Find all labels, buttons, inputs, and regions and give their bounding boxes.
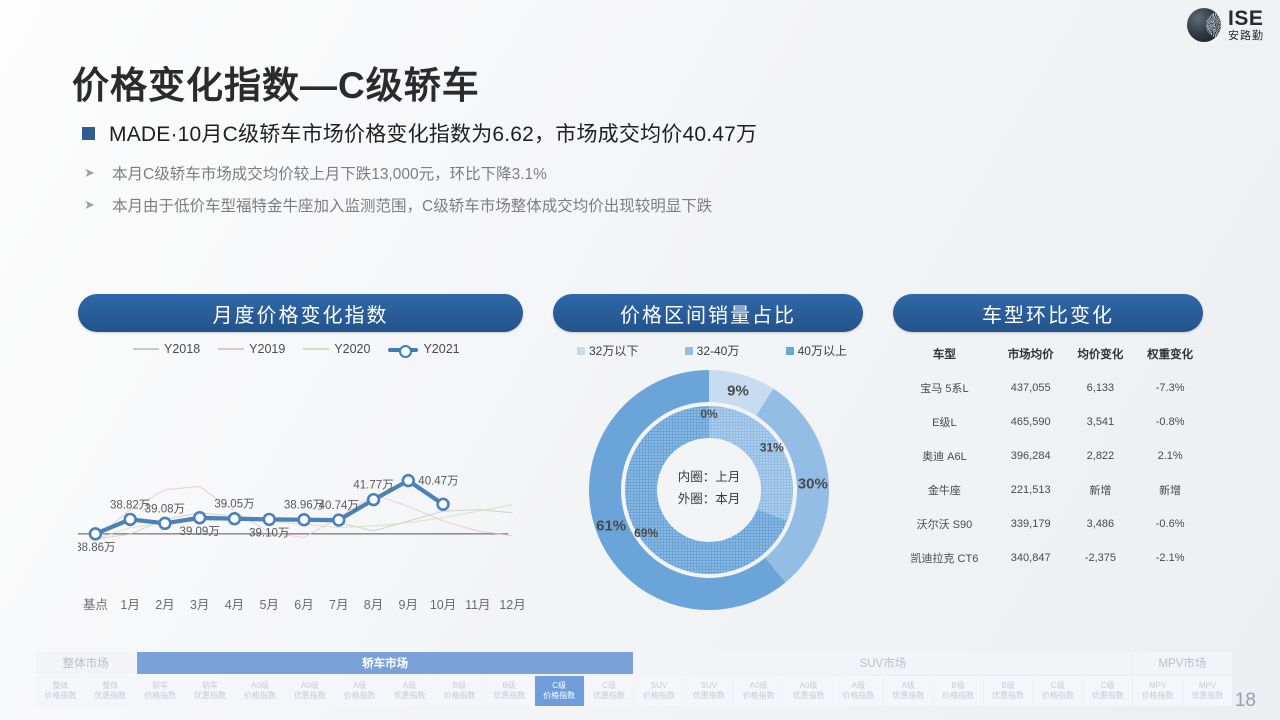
headline-bullet: MADE·10月C级轿车市场价格变化指数为6.62，市场成交均价40.47万 xyxy=(82,118,757,148)
chart-legend: Y2018Y2019Y2020Y2021 xyxy=(133,342,483,356)
donut-legend-label: 32-40万 xyxy=(697,342,740,359)
logo-name: ISE xyxy=(1228,8,1264,29)
donut-outer-note: 外圈：本月 xyxy=(659,488,759,510)
bottom-navigation[interactable]: 整体市场轿车市场SUV市场MPV市场 整体价格指数整体优惠指数轿车价格指数轿车优… xyxy=(36,652,1232,704)
data-label: 39.05万 xyxy=(214,499,254,511)
nav-tab-line1: A级 xyxy=(403,681,416,691)
x-tick-label: 12月 xyxy=(495,594,530,613)
table-cell: -2,375 xyxy=(1066,541,1136,575)
table-row: 沃尔沃 S90339,1793,486-0.6% xyxy=(893,507,1205,541)
nav-tab-line1: MPV xyxy=(1149,681,1166,691)
legend-label: Y2020 xyxy=(334,342,370,356)
table-header-cell: 权重变化 xyxy=(1135,340,1205,371)
nav-tab-23[interactable]: MPV优惠指数 xyxy=(1183,676,1232,706)
panel-title-donut-chart: 价格区间销量占比 xyxy=(553,294,863,332)
nav-tab-19[interactable]: B级优惠指数 xyxy=(984,676,1033,706)
nav-tab-14[interactable]: A0级价格指数 xyxy=(734,676,783,706)
legend-label: Y2019 xyxy=(249,342,285,356)
x-tick-label: 9月 xyxy=(391,594,426,613)
table-cell: 3,541 xyxy=(1066,405,1136,439)
data-point xyxy=(333,515,344,526)
donut-data-label: 31% xyxy=(760,440,784,454)
x-tick-label: 3月 xyxy=(182,594,217,613)
arrow-right-icon: ➤ xyxy=(84,197,96,213)
x-tick-label: 5月 xyxy=(252,594,287,613)
nav-tab-10[interactable]: C级价格指数 xyxy=(535,676,584,706)
data-point xyxy=(125,514,136,525)
table-cell: E级L xyxy=(893,405,996,439)
data-point xyxy=(403,475,414,486)
donut-data-label: 30% xyxy=(798,476,828,493)
table-cell: 6,133 xyxy=(1066,371,1136,405)
nav-group-整体市场[interactable]: 整体市场 xyxy=(36,652,135,674)
legend-label: Y2018 xyxy=(164,342,200,356)
nav-tab-9[interactable]: B级优惠指数 xyxy=(485,676,534,706)
table-cell: 339,179 xyxy=(996,507,1066,541)
table-header-cell: 市场均价 xyxy=(996,340,1066,371)
table-row: 凯迪拉克 CT6340,847-2,375-2.1% xyxy=(893,541,1205,575)
nav-tab-1[interactable]: 整体优惠指数 xyxy=(86,676,135,706)
table-row: 宝马 5系L437,0556,133-7.3% xyxy=(893,371,1205,405)
nav-tab-line2: 价格指数 xyxy=(842,691,874,701)
table-cell: -0.8% xyxy=(1135,405,1205,439)
square-bullet-icon xyxy=(82,127,95,140)
nav-index-tabs[interactable]: 整体价格指数整体优惠指数轿车价格指数轿车优惠指数A0级价格指数A0级优惠指数A级… xyxy=(36,676,1232,706)
legend-item-Y2018: Y2018 xyxy=(133,342,200,356)
data-point xyxy=(90,528,101,539)
nav-tab-17[interactable]: A级优惠指数 xyxy=(884,676,933,706)
nav-tab-3[interactable]: 轿车优惠指数 xyxy=(186,676,235,706)
donut-legend-item: 40万以上 xyxy=(786,342,847,359)
data-label: 41.77万 xyxy=(353,480,393,492)
sub-point-2-text: 本月由于低价车型福特金牛座加入监测范围，C级轿车市场整体成交均价出现较明显下跌 xyxy=(112,194,712,216)
nav-tab-line2: 价格指数 xyxy=(244,691,276,701)
nav-tab-line1: A0级 xyxy=(301,681,319,691)
nav-tab-line1: C级 xyxy=(1101,681,1115,691)
nav-tab-13[interactable]: SUV优惠指数 xyxy=(684,676,733,706)
nav-tab-line2: 价格指数 xyxy=(643,691,675,701)
table-header-row: 车型市场均价均价变化权重变化 xyxy=(893,340,1205,371)
nav-group-MPV市场[interactable]: MPV市场 xyxy=(1133,652,1232,674)
legend-swatch-icon xyxy=(577,347,585,355)
donut-data-label: 69% xyxy=(634,526,658,540)
donut-center-note: 内圈：上月 外圈：本月 xyxy=(659,466,759,510)
model-change-table: 车型市场均价均价变化权重变化 宝马 5系L437,0556,133-7.3%E级… xyxy=(893,340,1205,575)
nav-tab-line1: SUV xyxy=(701,681,717,691)
x-tick-label: 7月 xyxy=(321,594,356,613)
nav-tab-6[interactable]: A级价格指数 xyxy=(335,676,384,706)
nav-tab-line2: 价格指数 xyxy=(443,691,475,701)
logo-name-cn: 安路勤 xyxy=(1228,31,1264,42)
table-row: 奥迪 A6L396,2842,8222.1% xyxy=(893,439,1205,473)
nav-tab-5[interactable]: A0级优惠指数 xyxy=(285,676,334,706)
table-cell: 221,513 xyxy=(996,473,1066,507)
donut-legend-item: 32万以下 xyxy=(577,342,638,359)
nav-tab-21[interactable]: C级优惠指数 xyxy=(1083,676,1132,706)
x-axis-labels: 基点1月2月3月4月5月6月7月8月9月10月11月12月 xyxy=(78,594,530,613)
panel-title-table: 车型环比变化 xyxy=(893,294,1203,332)
data-label: 38.86万 xyxy=(78,542,116,554)
data-label: 39.10万 xyxy=(249,527,289,539)
nav-tab-line1: B级 xyxy=(453,681,466,691)
legend-marker-icon xyxy=(388,344,418,354)
price-range-share-chart: 32万以下32-40万40万以上 9%30%61%31%69%0% 内圈：上月 … xyxy=(553,336,865,621)
x-tick-label: 1月 xyxy=(113,594,148,613)
nav-tab-7[interactable]: A级优惠指数 xyxy=(385,676,434,706)
nav-tab-20[interactable]: C级价格指数 xyxy=(1034,676,1083,706)
nav-tab-line1: 轿车 xyxy=(152,681,168,691)
nav-tab-line2: 优惠指数 xyxy=(1192,691,1224,701)
nav-tab-15[interactable]: A0级优惠指数 xyxy=(784,676,833,706)
table-cell: -0.6% xyxy=(1135,507,1205,541)
nav-tab-0[interactable]: 整体价格指数 xyxy=(36,676,85,706)
table-cell: 奥迪 A6L xyxy=(893,439,996,473)
data-point xyxy=(229,513,240,524)
donut-legend-label: 32万以下 xyxy=(589,342,638,359)
table-cell: -7.3% xyxy=(1135,371,1205,405)
table-cell: 凯迪拉克 CT6 xyxy=(893,541,996,575)
legend-dash-icon xyxy=(218,348,244,350)
legend-dash-icon xyxy=(303,348,329,350)
nav-tab-line2: 优惠指数 xyxy=(493,691,525,701)
page-title: 价格变化指数—C级轿车 xyxy=(72,55,480,109)
table-cell: 新增 xyxy=(1135,473,1205,507)
x-tick-label: 基点 xyxy=(78,594,113,613)
data-point xyxy=(368,494,379,505)
nav-tab-line2: 价格指数 xyxy=(144,691,176,701)
table-row: 金牛座221,513新增新增 xyxy=(893,473,1205,507)
table-header-cell: 均价变化 xyxy=(1066,340,1136,371)
sub-point-1-text: 本月C级轿车市场成交均价较上月下跌13,000元，环比下降3.1% xyxy=(112,162,547,184)
nav-tab-line2: 价格指数 xyxy=(1142,691,1174,701)
nav-tab-line1: B级 xyxy=(503,681,516,691)
logo-text: ISE 安路勤 xyxy=(1228,8,1264,42)
nav-tab-line2: 价格指数 xyxy=(344,691,376,701)
nav-tab-22[interactable]: MPV价格指数 xyxy=(1133,676,1182,706)
nav-tab-line1: A0级 xyxy=(800,681,818,691)
table-cell: 宝马 5系L xyxy=(893,371,996,405)
nav-tab-line1: 轿车 xyxy=(202,681,218,691)
nav-tab-line2: 优惠指数 xyxy=(992,691,1024,701)
nav-tab-line1: 整体 xyxy=(52,681,68,691)
nav-tab-line1: C级 xyxy=(1051,681,1065,691)
nav-tab-line1: SUV xyxy=(651,681,667,691)
data-point xyxy=(264,514,275,525)
nav-tab-line1: A0级 xyxy=(750,681,768,691)
table-cell: 2.1% xyxy=(1135,439,1205,473)
nav-tab-line1: MPV xyxy=(1199,681,1216,691)
nav-tab-line2: 优惠指数 xyxy=(793,691,825,701)
table-row: E级L465,5903,541-0.8% xyxy=(893,405,1205,439)
nav-tab-line2: 优惠指数 xyxy=(94,691,126,701)
nav-tab-line2: 优惠指数 xyxy=(394,691,426,701)
sub-point-2: ➤ 本月由于低价车型福特金牛座加入监测范围，C级轿车市场整体成交均价出现较明显下… xyxy=(84,194,712,216)
table-cell: 340,847 xyxy=(996,541,1066,575)
data-label: 40.74万 xyxy=(319,500,359,512)
slide-root: ISE 安路勤 价格变化指数—C级轿车 MADE·10月C级轿车市场价格变化指数… xyxy=(0,0,1280,720)
table-cell: 3,486 xyxy=(1066,507,1136,541)
page-number: 18 xyxy=(1235,690,1256,712)
nav-tab-line1: 整体 xyxy=(102,681,118,691)
x-tick-label: 8月 xyxy=(356,594,391,613)
legend-dash-icon xyxy=(133,348,159,350)
donut-data-label: 9% xyxy=(727,382,749,399)
nav-tab-line2: 优惠指数 xyxy=(1092,691,1124,701)
data-label: 39.09万 xyxy=(180,526,220,538)
donut-inner-note: 内圈：上月 xyxy=(659,466,759,488)
donut-legend: 32万以下32-40万40万以上 xyxy=(577,342,847,359)
nav-tab-18[interactable]: B级价格指数 xyxy=(934,676,983,706)
nav-tab-line1: A级 xyxy=(902,681,915,691)
legend-item-Y2020: Y2020 xyxy=(303,342,370,356)
data-label: 40.47万 xyxy=(418,476,458,488)
table-header-cell: 车型 xyxy=(893,340,996,371)
nav-tab-line2: 价格指数 xyxy=(543,691,575,701)
nav-tab-line1: A级 xyxy=(353,681,366,691)
nav-tab-line1: A级 xyxy=(852,681,865,691)
table-cell: 新增 xyxy=(1066,473,1136,507)
monthly-price-index-chart: Y2018Y2019Y2020Y2021 38.86万38.82万39.08万3… xyxy=(78,336,530,621)
table-cell: -2.1% xyxy=(1135,541,1205,575)
x-tick-label: 10月 xyxy=(426,594,461,613)
donut-legend-label: 40万以上 xyxy=(798,342,847,359)
nav-tab-line2: 价格指数 xyxy=(743,691,775,701)
line-chart-svg: 38.86万38.82万39.08万39.09万39.05万39.10万38.9… xyxy=(78,364,530,594)
donut-data-label: 61% xyxy=(596,517,626,534)
donut-legend-item: 32-40万 xyxy=(685,342,740,359)
nav-tab-11[interactable]: C级优惠指数 xyxy=(585,676,634,706)
legend-swatch-icon xyxy=(786,347,794,355)
table-cell: 2,822 xyxy=(1066,439,1136,473)
nav-tab-4[interactable]: A0级价格指数 xyxy=(236,676,285,706)
nav-tab-line2: 优惠指数 xyxy=(593,691,625,701)
data-point xyxy=(160,518,171,529)
nav-tab-line2: 优惠指数 xyxy=(294,691,326,701)
nav-tab-line1: C级 xyxy=(552,681,566,691)
nav-tab-line1: B级 xyxy=(952,681,965,691)
legend-item-Y2019: Y2019 xyxy=(218,342,285,356)
nav-tab-8[interactable]: B级价格指数 xyxy=(435,676,484,706)
table-cell: 沃尔沃 S90 xyxy=(893,507,996,541)
nav-market-groups[interactable]: 整体市场轿车市场SUV市场MPV市场 xyxy=(36,652,1232,674)
headline-text: MADE·10月C级轿车市场价格变化指数为6.62，市场成交均价40.47万 xyxy=(109,118,757,148)
nav-tab-line2: 价格指数 xyxy=(1042,691,1074,701)
table-cell: 金牛座 xyxy=(893,473,996,507)
x-tick-label: 2月 xyxy=(148,594,183,613)
nav-tab-line2: 优惠指数 xyxy=(892,691,924,701)
legend-swatch-icon xyxy=(685,347,693,355)
nav-tab-line2: 价格指数 xyxy=(942,691,974,701)
nav-tab-line1: C级 xyxy=(602,681,616,691)
nav-tab-12[interactable]: SUV价格指数 xyxy=(635,676,684,706)
table-cell: 465,590 xyxy=(996,405,1066,439)
nav-tab-2[interactable]: 轿车价格指数 xyxy=(136,676,185,706)
table-cell: 396,284 xyxy=(996,439,1066,473)
table-body: 宝马 5系L437,0556,133-7.3%E级L465,5903,541-0… xyxy=(893,371,1205,575)
sub-point-1: ➤ 本月C级轿车市场成交均价较上月下跌13,000元，环比下降3.1% xyxy=(84,162,547,184)
globe-icon xyxy=(1187,8,1221,42)
legend-label: Y2021 xyxy=(423,342,459,356)
data-point xyxy=(438,499,449,510)
nav-group-SUV市场[interactable]: SUV市场 xyxy=(635,652,1131,674)
nav-tab-line2: 价格指数 xyxy=(44,691,76,701)
nav-tab-line1: A0级 xyxy=(251,681,269,691)
x-tick-label: 11月 xyxy=(460,594,495,613)
nav-tab-line1: B级 xyxy=(1001,681,1014,691)
data-point xyxy=(194,512,205,523)
data-label: 39.08万 xyxy=(145,503,185,515)
donut-data-label: 0% xyxy=(700,407,718,421)
panel-title-line-chart: 月度价格变化指数 xyxy=(78,294,523,332)
x-tick-label: 6月 xyxy=(287,594,322,613)
table-cell: 437,055 xyxy=(996,371,1066,405)
nav-tab-line2: 优惠指数 xyxy=(693,691,725,701)
nav-tab-line2: 优惠指数 xyxy=(194,691,226,701)
arrow-right-icon: ➤ xyxy=(84,165,96,181)
nav-tab-16[interactable]: A级价格指数 xyxy=(834,676,883,706)
nav-group-轿车市场[interactable]: 轿车市场 xyxy=(137,652,633,674)
legend-item-Y2021: Y2021 xyxy=(388,342,459,356)
brand-logo: ISE 安路勤 xyxy=(1187,8,1264,42)
data-point xyxy=(299,514,310,525)
x-tick-label: 4月 xyxy=(217,594,252,613)
